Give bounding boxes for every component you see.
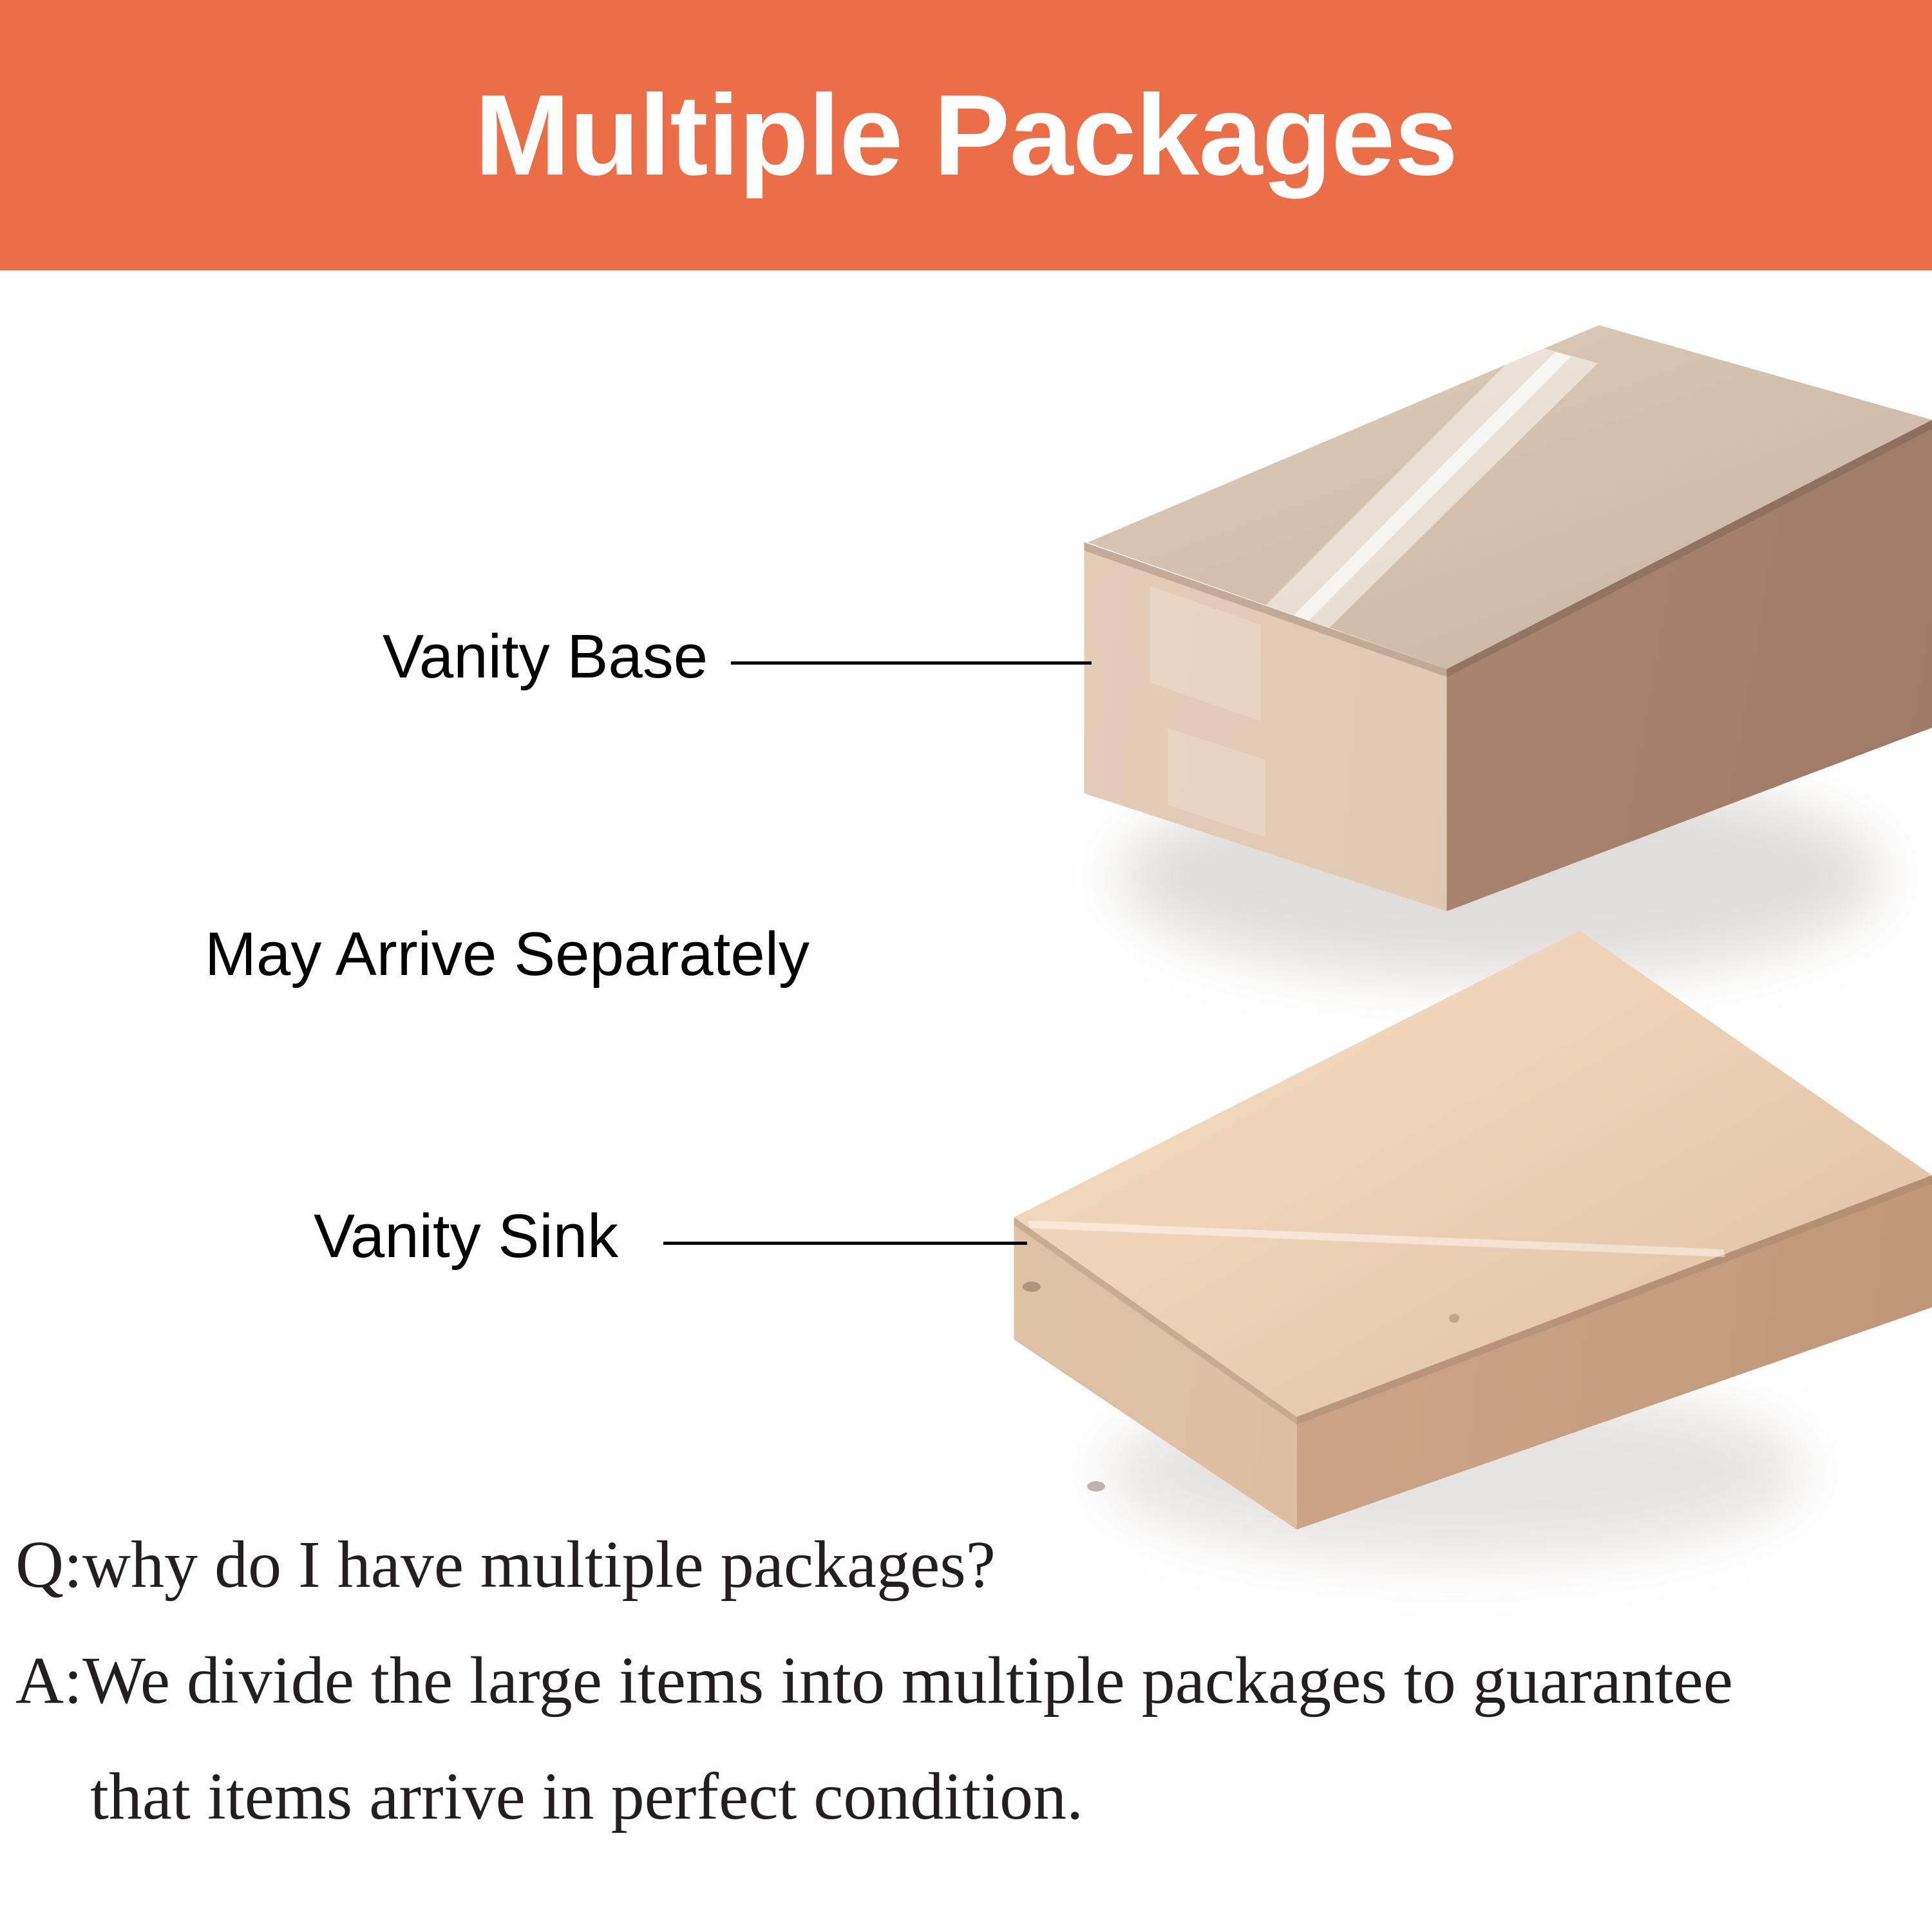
callout-label-may-arrive-separately: May Arrive Separately <box>205 923 810 985</box>
page-title: Multiple Packages <box>0 0 1932 270</box>
carton-notch <box>1087 1481 1105 1492</box>
carton-notch <box>1449 1314 1459 1323</box>
faq-question: Q:why do I have multiple packages? <box>15 1531 996 1598</box>
faq-answer-line-1: A:We divide the large items into multipl… <box>15 1647 1733 1714</box>
leader-line-vanity-sink <box>663 1242 1027 1245</box>
faq-answer-line-2: that items arrive in perfect condition. <box>90 1763 1083 1830</box>
callout-label-vanity-base: Vanity Base <box>383 626 708 688</box>
carton-notch <box>1023 1282 1041 1292</box>
product-infographic: Multiple Packages Vanity Base May Arrive… <box>0 0 1932 1932</box>
package-vanity-sink-illustration <box>1005 914 1932 1558</box>
callout-label-vanity-sink: Vanity Sink <box>314 1206 618 1267</box>
package-vanity-base-illustration <box>1043 322 1932 966</box>
header-banner: Multiple Packages <box>0 0 1932 270</box>
leader-line-vanity-base <box>731 661 1092 665</box>
